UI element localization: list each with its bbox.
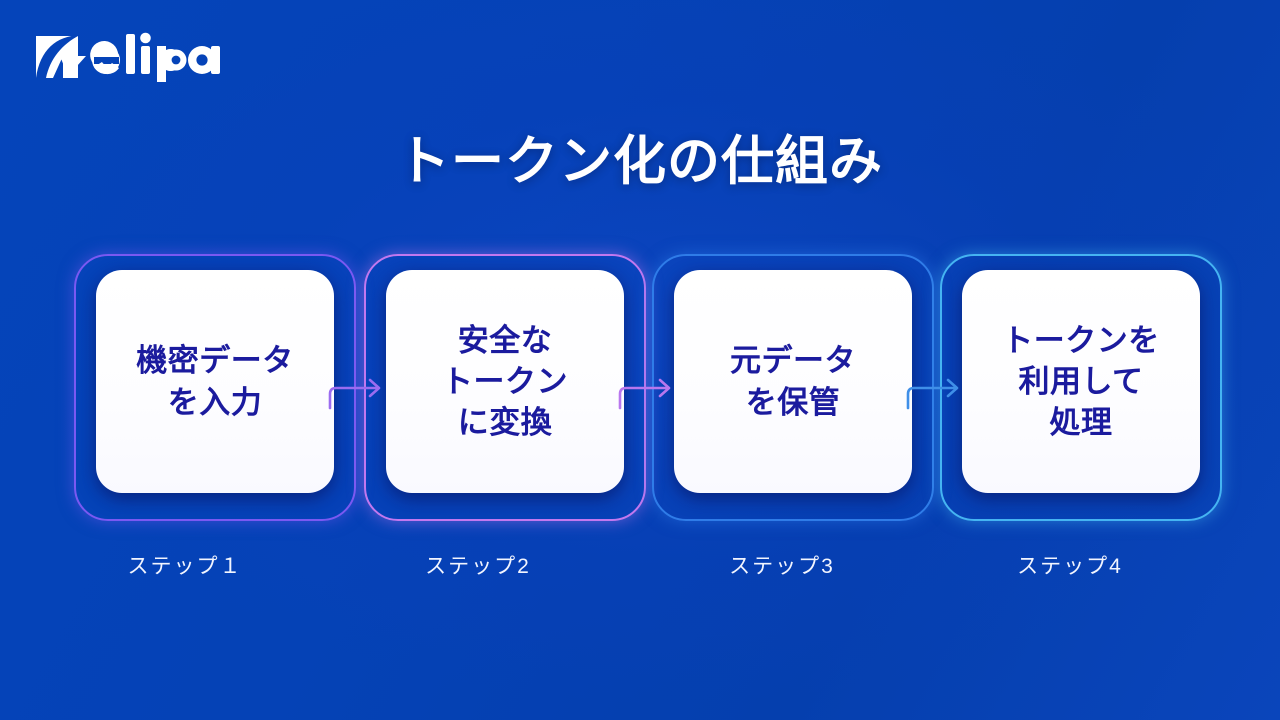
step-3-card-body[interactable]: 元データ を保管: [674, 270, 912, 493]
step-4-text: トークンを 利用して 処理: [994, 320, 1168, 444]
connector-2-3: [616, 360, 686, 420]
step-3-text: 元データ を保管: [722, 340, 864, 422]
step-label-1: ステップ１: [40, 550, 330, 580]
step-1-text: 機密データ を入力: [128, 340, 302, 422]
step-2-card-body[interactable]: 安全な トークン に変換: [386, 270, 624, 493]
connector-3-4: [904, 360, 974, 420]
arrow-right-elbow-icon: [326, 360, 396, 420]
step-label-2: ステップ2: [333, 550, 623, 580]
step-card-4[interactable]: トークンを 利用して 処理: [936, 250, 1226, 525]
slide-canvas: トークン化の仕組み 機密データ を入力 安全な トークン に変換 元データ を保…: [0, 0, 1280, 720]
step-4-card-body[interactable]: トークンを 利用して 処理: [962, 270, 1200, 493]
step-card-2[interactable]: 安全な トークン に変換: [360, 250, 650, 525]
page-title: トークン化の仕組み: [0, 133, 1280, 191]
step-card-1[interactable]: 機密データ を入力: [70, 250, 360, 525]
step-2-text: 安全な トークン に変換: [434, 320, 576, 444]
connector-1-2: [326, 360, 396, 420]
arrow-right-elbow-icon: [616, 360, 686, 420]
step-label-4: ステップ4: [925, 550, 1215, 580]
relipa-logo: [30, 26, 250, 84]
step-1-card-body[interactable]: 機密データ を入力: [96, 270, 334, 493]
step-label-3: ステップ3: [637, 550, 927, 580]
relipa-logo-icon: [30, 26, 250, 84]
step-card-3[interactable]: 元データ を保管: [648, 250, 938, 525]
arrow-right-elbow-icon: [904, 360, 974, 420]
